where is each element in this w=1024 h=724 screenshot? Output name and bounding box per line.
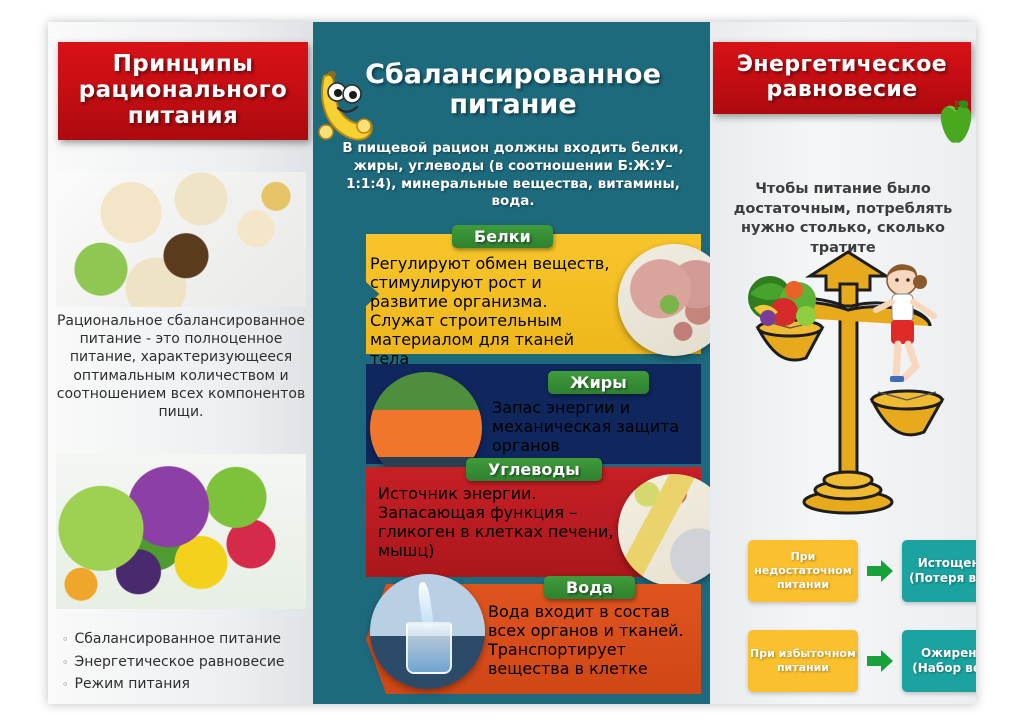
list-item-label: Энергетическое равновесие xyxy=(75,651,285,674)
nutrient-text-carbs: Источник энергии. Запасающая функция – г… xyxy=(378,484,618,560)
flow-cause-box: При недостаточном питании xyxy=(748,540,858,602)
left-panel: Принципы рационального питания Рациональ… xyxy=(48,22,313,704)
middle-panel-intro: В пищевой рацион должны входить белки, ж… xyxy=(330,140,696,211)
flow-cause-box: При избыточном питании xyxy=(748,630,858,692)
flow-row-excess: При избыточном питании Ожирение (Набор в… xyxy=(748,630,976,692)
list-item: ◦ Энергетическое равновесие xyxy=(62,651,306,674)
food-pile xyxy=(748,276,816,326)
vegetable-crate-photo xyxy=(56,454,306,609)
list-item: ◦ Сбалансированное питание xyxy=(62,628,306,651)
principles-list: ◦ Сбалансированное питание ◦ Энергетичес… xyxy=(62,628,306,696)
nutrient-text-water: Вода входит в состав всех органов и ткан… xyxy=(488,602,706,678)
nutrient-text-fat: Запас энергии и механическая защита орга… xyxy=(492,398,692,455)
arrow-right-icon xyxy=(858,558,902,584)
breakfast-table-photo xyxy=(56,172,306,307)
flow-effect-box: Ожирение (Набор веса) xyxy=(902,630,976,692)
green-apple-icon xyxy=(933,96,976,148)
energy-balance-intro: Чтобы питание было достаточным, потребля… xyxy=(716,180,970,258)
list-item: ◦ Режим питания xyxy=(62,673,306,696)
rational-nutrition-definition: Рациональное сбалансированное питание - … xyxy=(56,312,306,421)
bullet-icon: ◦ xyxy=(62,676,69,694)
water-glass xyxy=(406,622,452,674)
bullet-icon: ◦ xyxy=(62,654,69,672)
nutrient-text-protein: Регулируют обмен веществ, стимулируют ро… xyxy=(370,254,615,368)
badge-fat: Жиры xyxy=(548,371,649,394)
list-item-label: Сбалансированное питание xyxy=(75,628,282,651)
list-item-label: Режим питания xyxy=(75,673,190,696)
badge-protein: Белки xyxy=(452,225,553,248)
left-banner-title: Принципы рационального питания xyxy=(58,52,308,129)
badge-carbs: Углеводы xyxy=(466,458,602,481)
water-glass-photo xyxy=(370,574,485,689)
arrow-right-icon xyxy=(858,648,902,674)
poster-root: Принципы рационального питания Рациональ… xyxy=(0,0,1024,724)
poster-page: Принципы рационального питания Рациональ… xyxy=(48,22,976,704)
flow-row-deficit: При недостаточном питании Истощение (Пот… xyxy=(748,540,976,602)
banana-mascot-icon xyxy=(304,62,382,148)
badge-water: Вода xyxy=(544,576,635,599)
flow-effect-box: Истощение (Потеря веса) xyxy=(902,540,976,602)
bullet-icon: ◦ xyxy=(62,631,69,649)
balance-scale-illustration xyxy=(748,250,948,520)
left-banner: Принципы рационального питания xyxy=(58,42,308,140)
